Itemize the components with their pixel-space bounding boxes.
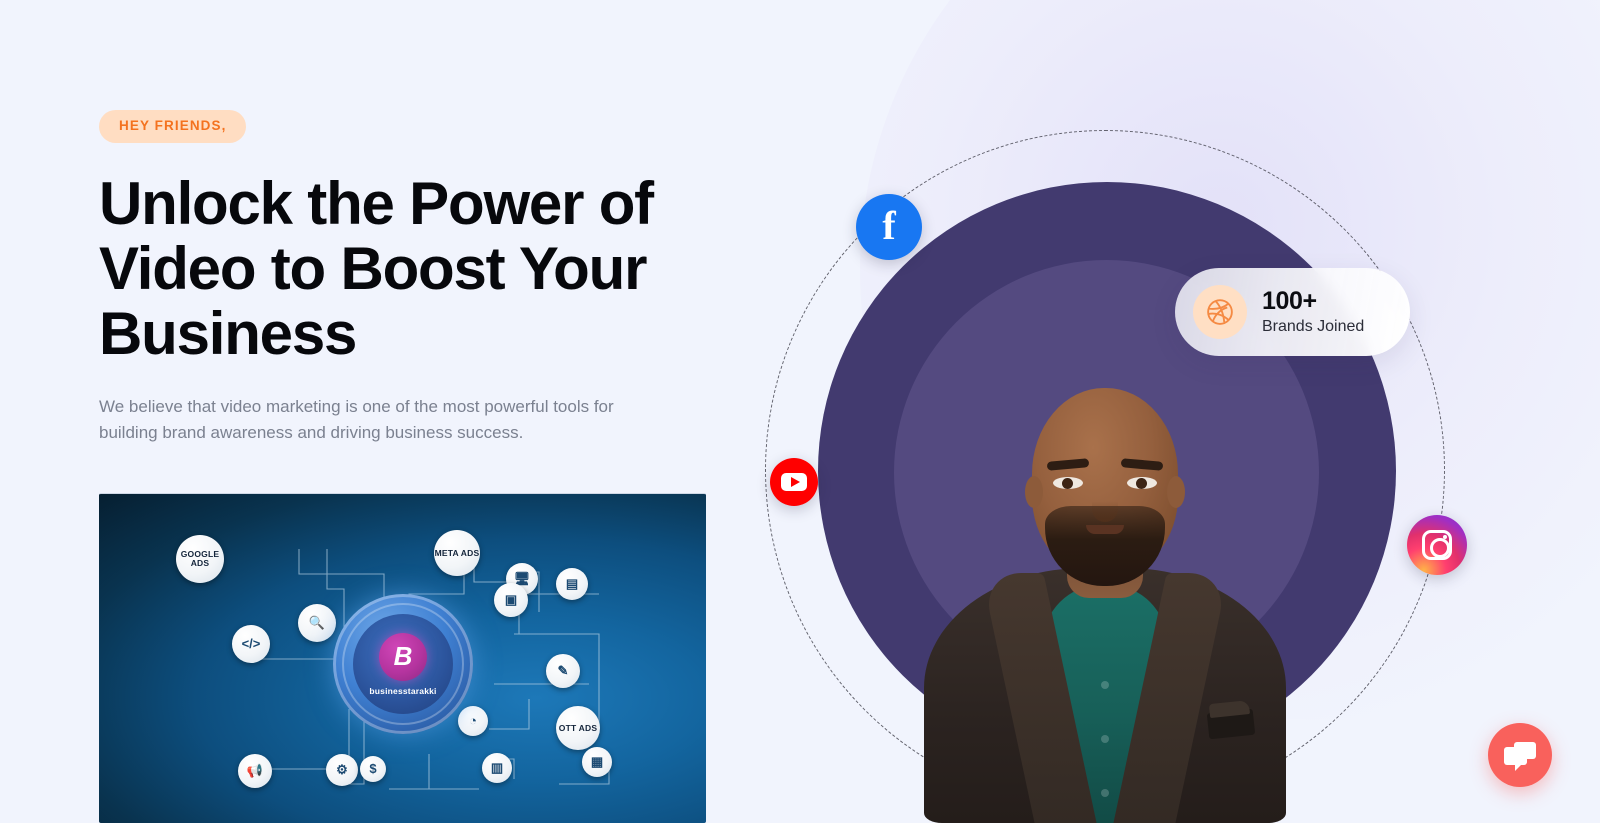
hero-text-column: HEY FRIENDS, Unlock the Power of Video t… — [99, 0, 739, 447]
eyebrow-badge: HEY FRIENDS, — [99, 110, 246, 143]
instagram-icon[interactable] — [1407, 515, 1467, 575]
chat-widget-button[interactable] — [1488, 723, 1552, 787]
instagram-camera-glyph — [1422, 530, 1452, 560]
presenter-portrait — [890, 388, 1320, 823]
hero-subcopy: We believe that video marketing is one o… — [99, 394, 644, 447]
node-barcode-icon: ▦ — [582, 747, 612, 777]
facebook-icon[interactable]: f — [856, 194, 922, 260]
video-infographic-card[interactable]: GOOGLE ADS META ADS OTT ADS 🔍 </> 🖥 ▤ ▣ … — [99, 493, 706, 823]
logo-inner-disc: B businesstarakki — [353, 614, 453, 714]
infographic-center-logo: B businesstarakki — [333, 594, 473, 734]
portrait-mouth — [1086, 525, 1124, 534]
portrait-ear-right — [1167, 476, 1185, 508]
chat-bubble-front — [1504, 747, 1527, 765]
shirt-button — [1101, 735, 1109, 743]
brand-mark-icon: B — [379, 633, 427, 681]
brands-joined-text: 100+ Brands Joined — [1262, 288, 1364, 336]
youtube-play-box — [781, 473, 807, 491]
chat-bubble-icon — [1504, 742, 1536, 768]
portrait-brow-right — [1121, 458, 1164, 471]
brands-joined-card: 100+ Brands Joined — [1175, 268, 1410, 356]
page-title: Unlock the Power of Video to Boost Your … — [99, 171, 699, 367]
node-meta-ads: META ADS — [434, 530, 480, 576]
dribbble-icon — [1193, 285, 1247, 339]
portrait-nose — [1092, 490, 1118, 522]
brand-name-label: businesstarakki — [369, 686, 436, 696]
portrait-eye-left — [1053, 477, 1083, 489]
infographic-stage: GOOGLE ADS META ADS OTT ADS 🔍 </> 🖥 ▤ ▣ … — [99, 494, 706, 823]
hero-page: HEY FRIENDS, Unlock the Power of Video t… — [0, 0, 1600, 823]
shirt-button — [1101, 681, 1109, 689]
dribbble-ball-glyph — [1205, 297, 1235, 327]
node-currency-icon: $ — [360, 756, 386, 782]
node-ott-ads: OTT ADS — [556, 706, 600, 750]
portrait-ear-left — [1025, 476, 1043, 508]
node-code-icon: </> — [232, 625, 270, 663]
portrait-brow-left — [1047, 458, 1090, 471]
node-search-icon: 🔍 — [298, 604, 336, 642]
brands-joined-value: 100+ — [1262, 288, 1364, 314]
shirt-button — [1101, 789, 1109, 797]
brands-joined-label: Brands Joined — [1262, 318, 1364, 336]
node-megaphone-icon: 📢 — [238, 754, 272, 788]
portrait-head — [1032, 388, 1178, 574]
youtube-icon[interactable] — [770, 458, 818, 506]
facebook-glyph: f — [882, 206, 895, 246]
node-gears-icon: ⚙ — [326, 754, 358, 786]
node-chart-icon: ▥ — [482, 753, 512, 783]
node-billboard-icon: ▤ — [556, 568, 588, 600]
portrait-pocket-square — [1207, 709, 1255, 740]
node-device-icon: ▣ — [494, 583, 528, 617]
node-pie-icon: ◔ — [458, 706, 488, 736]
hero-artwork: f 100+ Brands Joined — [760, 120, 1460, 823]
node-edit-icon: ✎ — [546, 654, 580, 688]
node-google-ads: GOOGLE ADS — [176, 535, 224, 583]
youtube-play-triangle — [791, 477, 800, 487]
portrait-eye-right — [1127, 477, 1157, 489]
